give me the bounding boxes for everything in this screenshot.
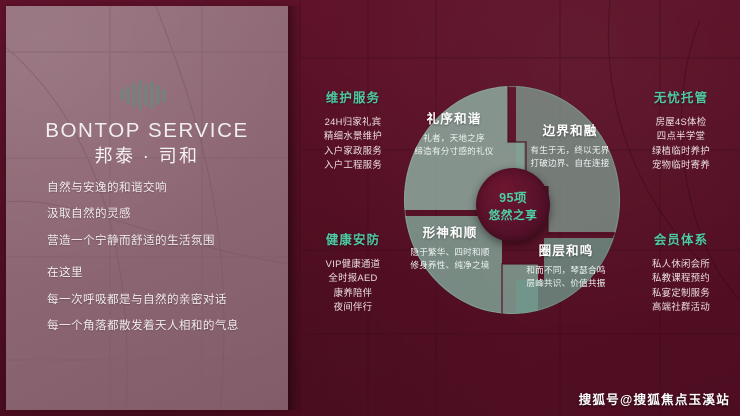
left-intro-panel: BONTOP SERVICE 邦泰 · 司和 自然与安逸的和谐交响 汲取自然的灵… <box>6 6 288 410</box>
service-item: 精细水景维护 <box>295 129 411 143</box>
brand-title-cn: 邦泰 · 司和 <box>6 142 288 168</box>
source-watermark: 搜狐号@搜狐焦点玉溪站 <box>579 389 730 408</box>
service-item: 入户工程服务 <box>295 158 411 172</box>
quadrant-bottom-right: 圈层和鸣 和而不同，琴瑟合鸣 层峰共识、价值共振 <box>512 240 620 290</box>
service-item: 私人休闲会所 <box>623 257 739 271</box>
quadrant-line: 隐于繁华、四时和顺 <box>396 246 504 259</box>
diagram-center-badge: 95项 悠然之享 <box>476 168 550 242</box>
quadrant-title: 边界和融 <box>516 120 624 139</box>
service-group-title: 会员体系 <box>623 230 739 248</box>
quadrant-line: 缔造有分寸感的礼仪 <box>400 145 508 158</box>
service-item: 高端社群活动 <box>623 300 739 314</box>
intro-line: 每一个角落都散发着天人相和的气息 <box>47 317 277 334</box>
service-item: VIP健康通道 <box>295 257 411 271</box>
service-item: 宠物临时寄养 <box>623 158 739 172</box>
center-count: 95项 <box>499 187 527 206</box>
service-item: 绿植临时养护 <box>623 144 739 158</box>
sound-bars-icon <box>121 76 165 114</box>
center-label: 悠然之享 <box>489 207 538 223</box>
quadrant-line: 层峰共识、价值共振 <box>512 277 620 290</box>
presentation-slide: BONTOP SERVICE 邦泰 · 司和 自然与安逸的和谐交响 汲取自然的灵… <box>0 0 740 416</box>
quadrant-line: 打破边界、自在连接 <box>516 157 624 170</box>
intro-line: 在这里 <box>47 264 277 281</box>
service-item: 私宴定制服务 <box>623 286 739 300</box>
service-item: 夜间伴行 <box>295 300 411 314</box>
quadrant-title: 圈层和鸣 <box>512 240 620 259</box>
intro-line: 营造一个宁静而舒适的生活氛围 <box>47 232 277 249</box>
service-item: 24H归家礼宾 <box>295 115 411 129</box>
service-group-membership: 会员体系 私人休闲会所 私教课程预约 私宴定制服务 高端社群活动 <box>623 230 739 315</box>
service-group-trusteeship: 无忧托管 房屋4S体检 四点半学堂 绿植临时养护 宠物临时寄养 <box>623 88 739 173</box>
intro-line: 自然与安逸的和谐交响 <box>47 179 277 196</box>
quadrant-line: 礼者，天地之序 <box>400 132 508 145</box>
central-pinwheel-diagram: 礼序和谐 礼者，天地之序 缔造有分寸感的礼仪 边界和融 有生于无，终以无界 打破… <box>398 82 626 318</box>
intro-copy: 自然与安逸的和谐交响 汲取自然的灵感 营造一个宁静而舒适的生活氛围 在这里 每一… <box>47 179 277 343</box>
quadrant-title: 礼序和谐 <box>400 108 508 127</box>
service-group-health: 健康安防 VIP健康通道 全时报AED 康养陪伴 夜间伴行 <box>295 230 411 315</box>
quadrant-top-right: 边界和融 有生于无，终以无界 打破边界、自在连接 <box>516 120 624 170</box>
intro-line: 汲取自然的灵感 <box>47 205 277 222</box>
service-item: 全时报AED <box>295 271 411 285</box>
service-item: 私教课程预约 <box>623 271 739 285</box>
service-item: 入户家政服务 <box>295 144 411 158</box>
quadrant-line: 和而不同，琴瑟合鸣 <box>512 264 620 277</box>
service-group-maintenance: 维护服务 24H归家礼宾 精细水景维护 入户家政服务 入户工程服务 <box>295 88 411 173</box>
intro-line: 每一次呼吸都是与自然的亲密对话 <box>47 291 277 308</box>
service-item: 四点半学堂 <box>623 129 739 143</box>
service-item: 房屋4S体检 <box>623 115 739 129</box>
quadrant-line: 有生于无，终以无界 <box>516 144 624 157</box>
service-group-title: 健康安防 <box>295 230 411 248</box>
service-item: 康养陪伴 <box>295 286 411 300</box>
quadrant-top-left: 礼序和谐 礼者，天地之序 缔造有分寸感的礼仪 <box>400 108 508 158</box>
service-group-title: 维护服务 <box>295 88 411 106</box>
brand-title-en: BONTOP SERVICE <box>6 118 288 144</box>
service-group-title: 无忧托管 <box>623 88 739 106</box>
quadrant-line: 修身养性、纯净之境 <box>396 259 504 272</box>
